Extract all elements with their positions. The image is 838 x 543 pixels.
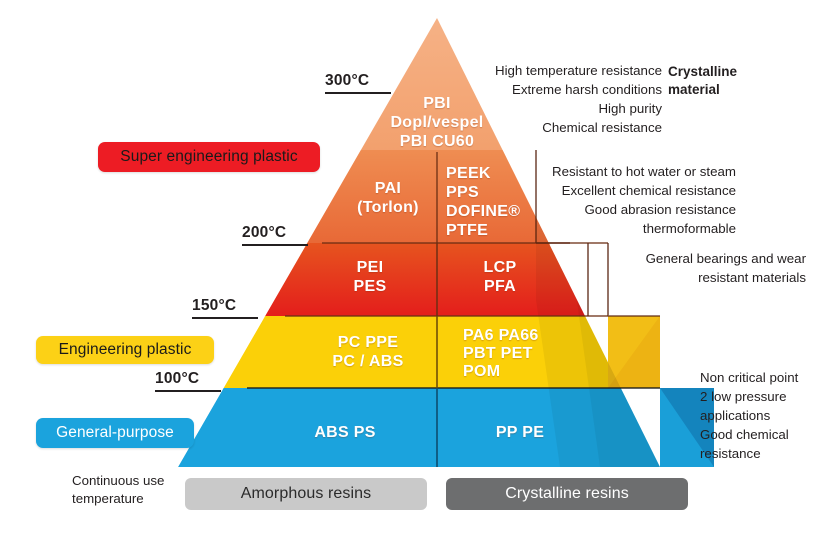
- temp-tick-200-rule: [242, 244, 308, 246]
- temp-tick-300-label: 300°C: [325, 72, 369, 89]
- temp-tick-200: 200°C: [242, 224, 308, 248]
- legend-crystalline-resins[interactable]: Crystalline resins: [446, 478, 688, 510]
- temp-tick-150-rule: [192, 317, 258, 319]
- pyramid-diagram-canvas: PBI Dopl/vespel PBI CU60 PAI (Torlon) PE…: [0, 0, 838, 543]
- temp-tick-100-rule: [155, 390, 221, 392]
- pill-engineering-plastic[interactable]: Engineering plastic: [36, 336, 214, 364]
- annotation-crystalline-material: Crystalline material: [668, 63, 788, 98]
- pill-super-engineering-plastic[interactable]: Super engineering plastic: [98, 142, 320, 172]
- temp-tick-100-label: 100°C: [155, 370, 199, 387]
- temp-tick-200-label: 200°C: [242, 224, 286, 241]
- temp-tick-300-rule: [325, 92, 391, 94]
- pill-general-purpose[interactable]: General-purpose: [36, 418, 194, 448]
- annotation-bearings-properties: General bearings and wear resistant mate…: [610, 250, 806, 288]
- temp-tick-150: 150°C: [192, 297, 258, 321]
- annotation-mid-properties: Resistant to hot water or steam Excellen…: [540, 163, 736, 239]
- temp-tick-100: 100°C: [155, 370, 221, 394]
- continuous-use-temperature-caption: Continuous use temperature: [72, 472, 202, 508]
- annotation-top-properties: High temperature resistance Extreme hars…: [470, 62, 662, 138]
- temp-tick-150-label: 150°C: [192, 297, 236, 314]
- annotation-general-purpose-properties: Non critical point 2 low pressure applic…: [700, 369, 830, 463]
- legend-amorphous-resins[interactable]: Amorphous resins: [185, 478, 427, 510]
- temp-tick-300: 300°C: [325, 72, 391, 96]
